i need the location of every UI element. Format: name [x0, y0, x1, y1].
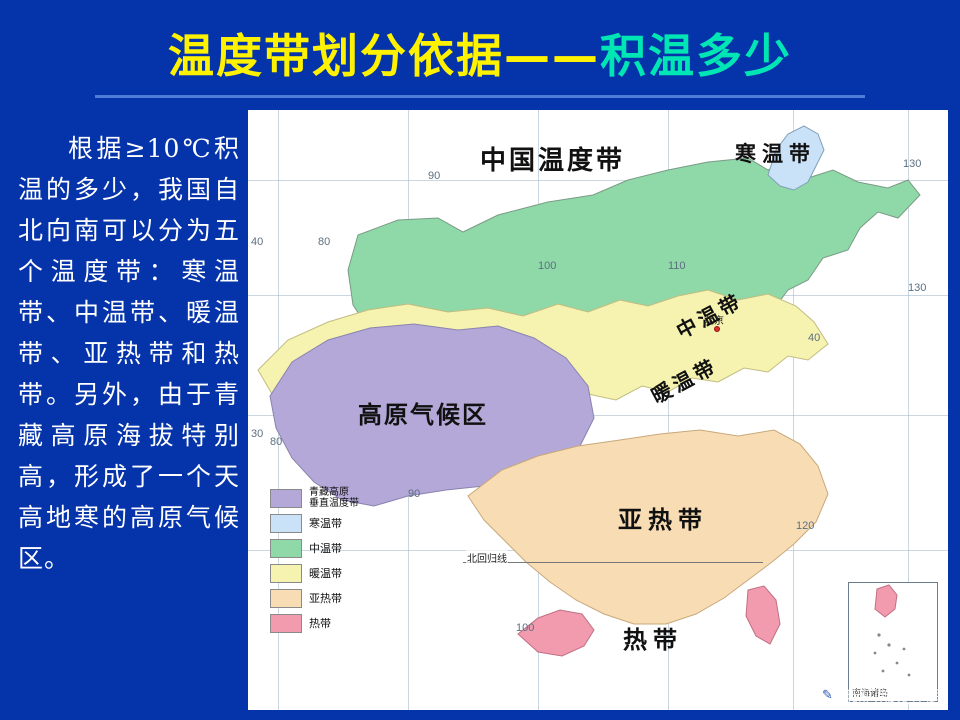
- slide-root: 温度带划分依据——积温多少 根据≥10℃积温的多少，我国自北向南可以分为五个温度…: [0, 0, 960, 720]
- grid-label-lon-90b: 90: [408, 488, 420, 500]
- tropic-of-cancer-label: 北回归线: [466, 550, 508, 565]
- tropic-of-cancer-line: [463, 562, 763, 563]
- map-canvas: 中国温度带 寒温带 中温带 暖温带 高原气候区 亚热带 热带 北京 北回归线 4…: [248, 110, 948, 710]
- legend-swatch-hanwendai: [270, 514, 302, 533]
- title-part-2: 积温多少: [600, 29, 792, 83]
- legend-swatch-redai: [270, 614, 302, 633]
- grid-label-lon-80: 80: [318, 236, 330, 248]
- grid-label-lon-120: 120: [796, 520, 814, 532]
- legend-label-gaoyuan-line2: 垂直温度带: [309, 499, 359, 510]
- legend-item-5: 热带: [270, 613, 378, 634]
- body-paragraph-text: 根据≥10℃积温的多少，我国自北向南可以分为五个温度带：寒温带、中温带、暖温带、…: [18, 134, 240, 573]
- body-paragraph: 根据≥10℃积温的多少，我国自北向南可以分为五个温度带：寒温带、中温带、暖温带、…: [18, 128, 240, 579]
- map-image: 中国温度带 寒温带 中温带 暖温带 高原气候区 亚热带 热带 北京 北回归线 4…: [248, 110, 948, 710]
- watermark-icon: ✎: [818, 686, 837, 705]
- watermark: ✎ 我们都爱地理: [818, 683, 946, 708]
- legend-label-zhongwendai: 中温带: [309, 543, 342, 555]
- grid-label-lon-130: 130: [903, 158, 921, 170]
- legend-item-4: 亚热带: [270, 588, 378, 609]
- grid-label-lon-90: 90: [428, 170, 440, 182]
- slide-title: 温度带划分依据——积温多少: [0, 14, 960, 92]
- legend-label-yaredai: 亚热带: [309, 593, 342, 605]
- grid-label-lat-40a: 40: [251, 236, 263, 248]
- label-gaoyuanqihouqu: 高原气候区: [358, 395, 488, 430]
- legend-swatch-gaoyuan: [270, 489, 302, 508]
- grid-label-lon-110: 110: [668, 260, 686, 272]
- grid-label-lon-100: 100: [538, 260, 556, 272]
- legend-item-3: 暖温带: [270, 563, 378, 584]
- grid-label-lat-40b: 40: [808, 332, 820, 344]
- label-hanwendai: 寒温带: [735, 138, 816, 168]
- legend-label-gaoyuan-line1: 青藏高原: [309, 488, 359, 499]
- grid-label-lon-80b: 80: [270, 436, 282, 448]
- label-yaredai: 亚热带: [618, 500, 708, 535]
- watermark-text: 我们都爱地理: [844, 683, 946, 708]
- legend-label-hanwendai: 寒温带: [309, 518, 342, 530]
- grid-label-lat-30a: 30: [251, 428, 263, 440]
- legend-label-redai: 热带: [309, 618, 331, 630]
- grid-label-lon-100b: 100: [516, 622, 534, 634]
- page-title: 温度带划分依据——积温多少: [168, 20, 792, 86]
- legend-swatch-yaredai: [270, 589, 302, 608]
- legend-label-nuanwendai: 暖温带: [309, 568, 342, 580]
- title-part-1: 温度带划分依据——: [168, 29, 600, 83]
- legend-swatch-nuanwendai: [270, 564, 302, 583]
- legend-item-1: 寒温带: [270, 513, 378, 534]
- label-redai: 热带: [623, 620, 683, 655]
- grid-label-lon-130b: 130: [908, 282, 926, 294]
- legend-item-2: 中温带: [270, 538, 378, 559]
- city-label-beijing: 北京: [704, 312, 724, 327]
- legend-swatch-zhongwendai: [270, 539, 302, 558]
- map-legend: 青藏高原 垂直温度带 寒温带 中温带 暖温带: [270, 488, 378, 638]
- legend-item-0: 青藏高原 垂直温度带: [270, 488, 378, 509]
- map-title: 中国温度带: [480, 140, 625, 177]
- legend-label-gaoyuan: 青藏高原 垂直温度带: [309, 488, 359, 509]
- title-divider: [95, 95, 865, 98]
